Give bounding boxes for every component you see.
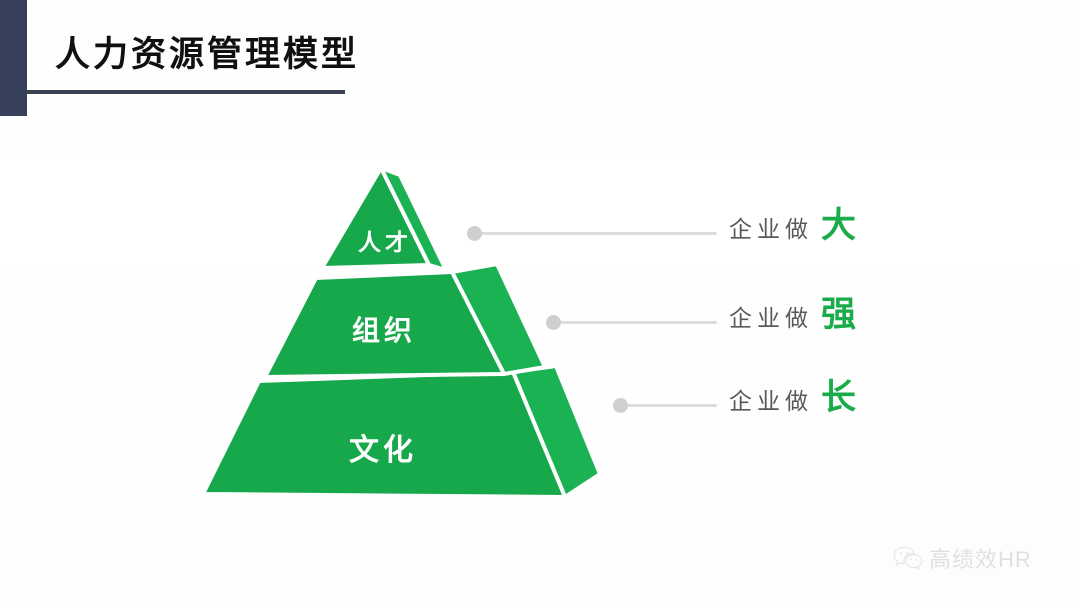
wechat-icon — [893, 545, 923, 571]
pyramid-tier-middle[interactable]: 组织 — [265, 264, 545, 377]
pyramid-tier-middle-label: 组织 — [352, 315, 416, 347]
watermark: 高绩效HR — [893, 542, 1032, 574]
callout-2-keyword: 强 — [821, 297, 856, 332]
pyramid-tier-top[interactable]: 人才 — [322, 168, 446, 270]
pyramid-tier-top-label: 人才 — [358, 230, 412, 255]
pyramid-tier-bottom[interactable]: 文化 — [203, 366, 600, 497]
connector-line-1 — [481, 232, 717, 235]
connector-dot-1 — [467, 226, 482, 241]
connector-dot-2 — [546, 315, 561, 330]
callout-3-keyword: 长 — [821, 380, 856, 415]
callout-2-prefix: 企业做 — [729, 299, 813, 333]
callout-2[interactable]: 企业做 强 — [729, 297, 856, 333]
pyramid-tier-bottom-label: 文化 — [349, 433, 417, 467]
callout-3[interactable]: 企业做 长 — [729, 380, 856, 416]
slide-canvas: 人力资源管理模型 文化 组织 人才 — [0, 0, 1080, 607]
callout-1[interactable]: 企业做 大 — [729, 208, 856, 244]
callout-3-prefix: 企业做 — [729, 382, 813, 416]
connector-dot-3 — [613, 398, 628, 413]
callout-1-keyword: 大 — [821, 208, 856, 243]
connector-line-2 — [560, 321, 717, 324]
callout-1-prefix: 企业做 — [729, 210, 813, 244]
pyramid-diagram: 文化 组织 人才 — [0, 0, 1080, 607]
connector-line-3 — [627, 404, 717, 407]
watermark-text: 高绩效HR — [929, 542, 1032, 574]
